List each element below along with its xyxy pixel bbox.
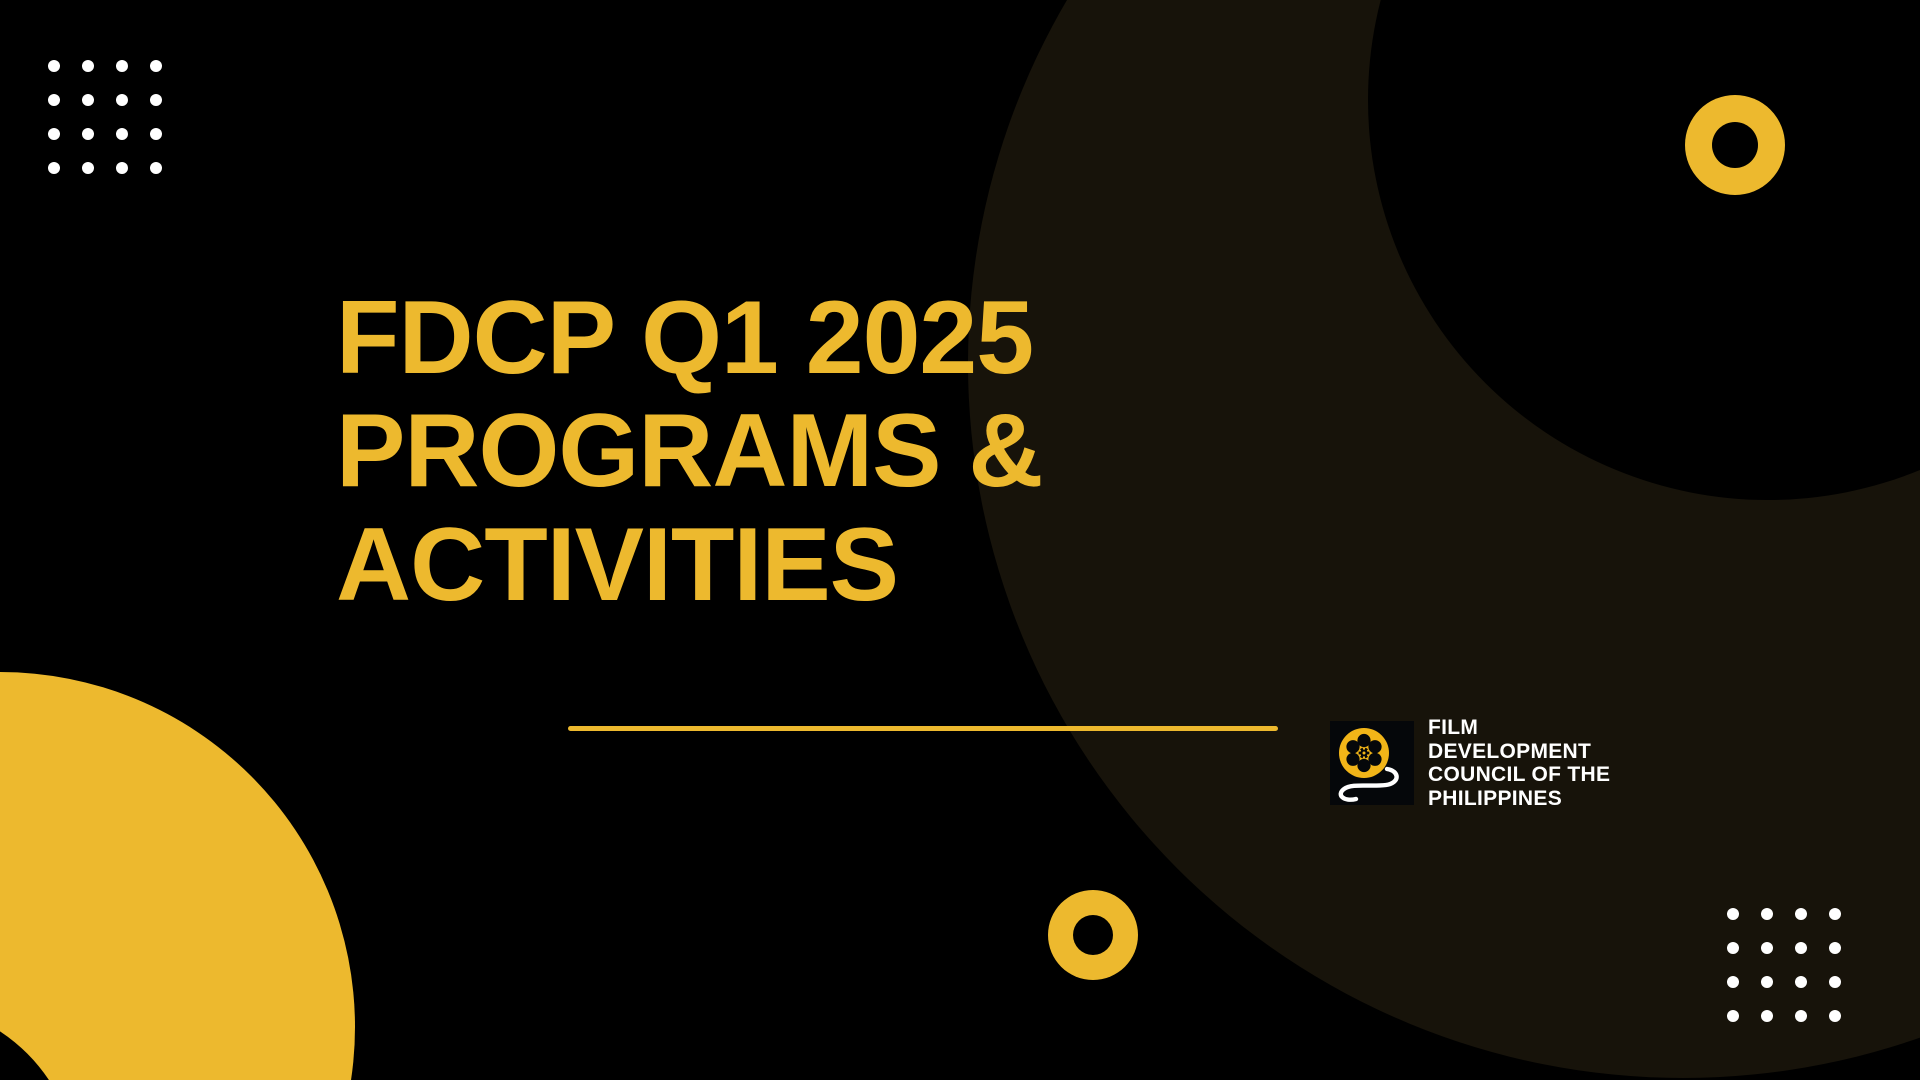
yellow-arc-shape [0, 672, 355, 1080]
grid-dot [1761, 942, 1773, 954]
grid-dot [48, 60, 60, 72]
grid-dot [150, 60, 162, 72]
grid-dot [116, 94, 128, 106]
wordmark-line-2: DEVELOPMENT [1428, 740, 1610, 764]
grid-dot [48, 94, 60, 106]
dot-grid-top-left [48, 60, 162, 174]
fdcp-wordmark: FILM DEVELOPMENT COUNCIL OF THE PHILIPPI… [1428, 716, 1610, 810]
grid-dot [1727, 1010, 1739, 1022]
grid-dot [82, 60, 94, 72]
dot-grid-bottom-right [1727, 908, 1841, 1022]
grid-dot [1761, 976, 1773, 988]
grid-dot [150, 162, 162, 174]
slide-title-line-1: FDCP Q1 2025 [336, 282, 1296, 395]
grid-dot [82, 162, 94, 174]
grid-dot [1727, 908, 1739, 920]
grid-dot [1829, 1010, 1841, 1022]
grid-dot [82, 128, 94, 140]
grid-dot [1795, 942, 1807, 954]
grid-dot [1829, 908, 1841, 920]
grid-dot [116, 128, 128, 140]
fdcp-logo-lockup: FILM DEVELOPMENT COUNCIL OF THE PHILIPPI… [1330, 716, 1610, 810]
yellow-arc-inner-cutout [0, 1003, 78, 1080]
grid-dot [1829, 942, 1841, 954]
wordmark-line-1: FILM [1428, 716, 1610, 740]
yellow-ring-bottom-center-icon [1048, 890, 1138, 980]
grid-dot [1727, 976, 1739, 988]
yellow-ring-top-right-icon [1685, 95, 1785, 195]
slide-title-line-2: PROGRAMS & [336, 395, 1296, 508]
grid-dot [1761, 908, 1773, 920]
grid-dot [150, 128, 162, 140]
black-circle-cutout-shape [1368, 0, 1920, 500]
presentation-slide: FDCP Q1 2025 PROGRAMS & ACTIVITIES [0, 0, 1920, 1080]
grid-dot [48, 162, 60, 174]
film-reel-icon [1330, 721, 1414, 805]
grid-dot [116, 60, 128, 72]
grid-dot [1795, 976, 1807, 988]
wordmark-line-3: COUNCIL OF THE [1428, 763, 1610, 787]
title-divider-rule [568, 726, 1278, 731]
grid-dot [1727, 942, 1739, 954]
slide-title: FDCP Q1 2025 PROGRAMS & ACTIVITIES [336, 282, 1296, 622]
wordmark-line-4: PHILIPPINES [1428, 787, 1610, 811]
grid-dot [1795, 908, 1807, 920]
grid-dot [1829, 976, 1841, 988]
grid-dot [116, 162, 128, 174]
grid-dot [1795, 1010, 1807, 1022]
slide-title-line-3: ACTIVITIES [336, 509, 1296, 622]
grid-dot [82, 94, 94, 106]
grid-dot [1761, 1010, 1773, 1022]
grid-dot [48, 128, 60, 140]
grid-dot [150, 94, 162, 106]
